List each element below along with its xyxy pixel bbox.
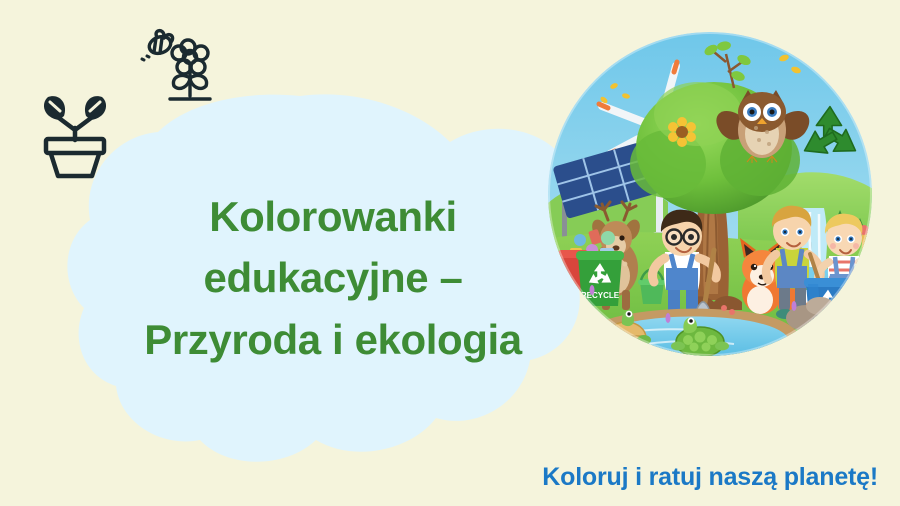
poster-canvas: Kolorowanki edukacyjne – Przyroda i ekol…: [0, 0, 900, 506]
plant-pot-icon: [34, 84, 116, 180]
page-title: Kolorowanki edukacyjne – Przyroda i ekol…: [98, 186, 568, 370]
bee-flower-icon: [138, 28, 220, 108]
page-title-line-2: edukacyjne –: [98, 247, 568, 308]
page-title-line-1: Kolorowanki: [98, 186, 568, 247]
eco-scene-illustration: RECYCLE: [548, 32, 872, 356]
page-title-line-3: Przyroda i ekologia: [98, 309, 568, 370]
tagline: Koloruj i ratuj naszą planetę!: [542, 463, 878, 492]
